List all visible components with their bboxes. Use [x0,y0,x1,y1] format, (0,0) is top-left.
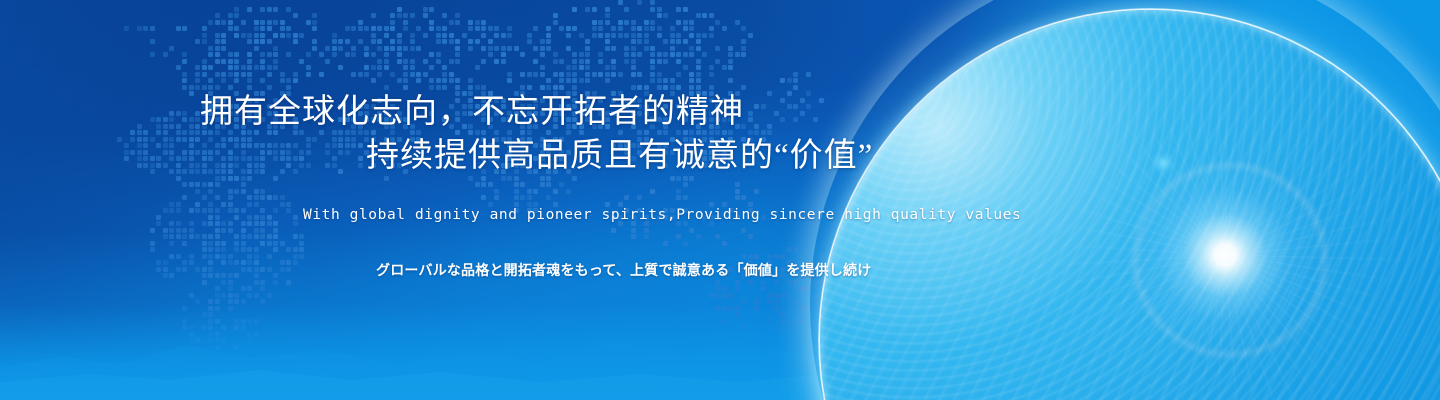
map-dot [241,221,246,226]
map-dot [312,13,317,18]
map-dot [273,33,278,38]
map-dot [241,169,246,174]
map-dot [208,273,213,278]
map-dot [254,26,259,31]
map-dot [163,234,168,239]
map-dot [676,52,681,57]
map-dot [202,247,207,252]
map-dot [202,267,207,272]
map-dot [228,254,233,259]
map-dot [241,72,246,77]
map-dot [533,98,538,103]
map-dot [176,234,181,239]
map-dot [410,65,415,70]
map-dot [533,104,538,109]
map-dot [507,176,512,181]
map-dot [488,46,493,51]
map-dot [280,195,285,200]
map-dot [286,91,291,96]
map-dot [494,26,499,31]
map-dot [397,163,402,168]
map-dot [371,117,376,122]
map-dot [416,156,421,161]
map-dot [215,130,220,135]
map-dot [442,117,447,122]
map-dot [683,176,688,181]
map-dot [234,7,239,12]
map-dot [390,124,395,129]
map-dot [735,104,740,109]
map-dot [202,182,207,187]
map-dot [293,130,298,135]
map-dot [488,202,493,207]
map-dot [533,189,538,194]
map-dot [273,143,278,148]
map-dot [247,39,252,44]
map-dot [286,247,291,252]
map-dot [267,111,272,116]
map-dot [208,208,213,213]
map-dot [696,124,701,129]
map-dot [247,85,252,90]
map-dot [228,111,233,116]
map-dot [208,78,213,83]
map-dot [202,221,207,226]
map-dot [741,85,746,90]
map-dot [332,46,337,51]
map-dot [260,228,265,233]
map-dot [286,280,291,285]
map-dot [780,78,785,83]
map-dot [722,241,727,246]
map-dot [644,130,649,135]
map-dot [397,137,402,142]
map-dot [280,202,285,207]
map-dot [618,130,623,135]
map-dot [501,59,506,64]
map-dot [553,52,558,57]
map-dot [299,130,304,135]
map-dot [351,46,356,51]
map-dot [293,39,298,44]
map-dot [156,163,161,168]
map-dot [202,195,207,200]
map-dot [280,143,285,148]
map-dot [689,72,694,77]
map-dot [709,156,714,161]
map-dot [501,98,506,103]
map-dot [507,156,512,161]
map-dot [637,26,642,31]
map-dot [293,260,298,265]
map-dot [618,33,623,38]
map-dot [650,0,655,5]
map-dot [293,254,298,259]
map-dot [234,273,239,278]
map-dot [481,33,486,38]
map-dot [293,124,298,129]
map-dot [163,124,168,129]
map-dot [546,78,551,83]
map-dot [150,137,155,142]
map-dot [507,26,512,31]
map-dot [481,111,486,116]
map-dot [280,267,285,272]
map-dot [182,59,187,64]
map-dot [592,124,597,129]
map-dot [169,234,174,239]
map-dot [338,39,343,44]
map-dot [176,202,181,207]
map-dot [351,72,356,77]
map-dot [735,215,740,220]
map-dot [650,124,655,129]
map-dot [709,65,714,70]
map-dot [481,117,486,122]
map-dot [208,215,213,220]
map-dot [215,46,220,51]
map-dot [410,130,415,135]
map-dot [637,98,642,103]
map-dot [195,85,200,90]
map-dot [566,150,571,155]
map-dot [377,39,382,44]
map-dot [449,39,454,44]
map-dot [403,117,408,122]
map-dot [215,215,220,220]
map-dot [202,59,207,64]
map-dot [228,156,233,161]
map-dot [657,26,662,31]
map-dot [364,150,369,155]
map-dot [605,111,610,116]
map-dot [546,182,551,187]
map-dot [189,130,194,135]
map-dot [215,169,220,174]
map-dot [579,78,584,83]
map-dot [689,52,694,57]
map-dot [624,150,629,155]
map-dot [559,111,564,116]
map-dot [377,117,382,122]
map-dot [247,156,252,161]
map-dot [624,46,629,51]
map-dot [202,254,207,259]
map-dot [260,208,265,213]
map-dot [384,85,389,90]
map-dot [566,104,571,109]
map-dot [247,33,252,38]
map-dot [631,111,636,116]
map-dot [260,156,265,161]
map-dot [709,215,714,220]
map-dot [462,111,467,116]
map-dot [169,221,174,226]
map-dot [202,169,207,174]
map-dot [761,280,766,285]
map-dot [247,267,252,272]
map-dot [228,13,233,18]
map-dot [234,247,239,252]
map-dot [553,163,558,168]
map-dot [338,104,343,109]
map-dot [689,20,694,25]
map-dot [390,104,395,109]
map-dot [676,72,681,77]
map-dot [637,150,642,155]
map-dot [455,13,460,18]
map-dot [767,124,772,129]
map-dot [215,221,220,226]
map-dot [546,46,551,51]
map-dot [683,195,688,200]
map-dot [208,247,213,252]
map-dot [507,137,512,142]
map-dot [657,72,662,77]
map-dot [332,137,337,142]
map-dot [702,104,707,109]
map-dot [397,117,402,122]
map-dot [455,59,460,64]
map-dot [689,33,694,38]
map-dot [364,137,369,142]
map-dot [644,137,649,142]
map-dot [280,26,285,31]
map-dot [338,130,343,135]
map-dot [644,234,649,239]
map-dot [670,150,675,155]
map-dot [468,20,473,25]
map-dot [351,104,356,109]
map-dot [780,267,785,272]
map-dot [195,111,200,116]
map-dot [234,33,239,38]
map-dot [748,33,753,38]
map-dot [611,26,616,31]
map-dot [241,228,246,233]
map-dot [247,176,252,181]
map-dot [637,137,642,142]
map-dot [286,163,291,168]
map-dot [156,260,161,265]
map-dot [572,78,577,83]
map-dot [371,39,376,44]
map-dot [195,124,200,129]
map-dot [312,39,317,44]
map-dot [358,20,363,25]
map-dot [631,215,636,220]
map-dot [728,130,733,135]
map-dot [169,169,174,174]
map-dot [260,150,265,155]
map-dot [221,254,226,259]
map-dot [696,13,701,18]
map-dot [663,104,668,109]
map-dot [546,150,551,155]
map-dot [650,20,655,25]
map-dot [286,156,291,161]
map-dot [663,13,668,18]
map-dot [611,228,616,233]
map-dot [176,267,181,272]
map-dot [800,273,805,278]
map-dot [631,143,636,148]
map-dot [527,111,532,116]
map-dot [605,20,610,25]
map-dot [228,273,233,278]
map-dot [559,137,564,142]
map-dot [689,78,694,83]
map-dot [338,137,343,142]
map-dot [514,46,519,51]
map-dot [520,72,525,77]
map-dot [273,234,278,239]
map-dot [260,169,265,174]
map-dot [676,59,681,64]
map-dot [605,78,610,83]
map-dot [267,254,272,259]
map-dot [234,163,239,168]
map-dot [143,163,148,168]
map-dot [176,124,181,129]
map-dot [156,124,161,129]
map-dot [546,176,551,181]
map-dot [124,143,129,148]
map-dot [150,241,155,246]
map-dot [527,130,532,135]
map-dot [403,13,408,18]
map-dot [527,104,532,109]
map-dot [169,241,174,246]
map-dot [163,273,168,278]
map-dot [819,254,824,259]
map-dot [176,254,181,259]
map-dot [247,137,252,142]
map-dot [234,117,239,122]
map-dot [644,221,649,226]
map-dot [351,124,356,129]
map-dot [624,7,629,12]
map-dot [598,111,603,116]
map-dot [306,52,311,57]
map-dot [728,117,733,122]
map-dot [215,104,220,109]
map-dot [507,130,512,135]
map-dot [338,169,343,174]
map-dot [657,215,662,220]
map-dot [728,267,733,272]
map-dot [234,208,239,213]
map-dot [182,78,187,83]
map-dot [728,65,733,70]
map-dot [416,72,421,77]
map-dot [481,59,486,64]
map-dot [208,169,213,174]
map-dot [358,111,363,116]
map-dot [663,52,668,57]
map-dot [748,130,753,135]
map-dot [423,13,428,18]
map-dot [566,26,571,31]
map-dot [572,26,577,31]
map-dot [605,65,610,70]
map-dot [741,273,746,278]
map-dot [631,85,636,90]
map-dot [286,260,291,265]
map-dot [143,137,148,142]
map-dot [332,130,337,135]
map-dot [351,130,356,135]
map-dot [202,208,207,213]
map-dot [572,72,577,77]
map-dot [247,215,252,220]
map-dot [215,228,220,233]
map-dot [215,124,220,129]
map-dot [754,273,759,278]
map-dot [715,143,720,148]
map-dot [449,78,454,83]
map-dot [293,143,298,148]
map-dot [650,72,655,77]
map-dot [195,78,200,83]
map-dot [267,85,272,90]
map-dot [228,85,233,90]
map-dot [215,33,220,38]
map-dot [273,124,278,129]
map-dot [208,46,213,51]
map-dot [735,91,740,96]
map-dot [728,104,733,109]
map-dot [585,117,590,122]
map-dot [273,195,278,200]
map-dot [215,254,220,259]
map-dot [163,228,168,233]
map-dot [637,111,642,116]
map-dot [689,85,694,90]
map-dot [215,143,220,148]
map-dot [215,241,220,246]
map-dot [169,208,174,213]
map-dot [169,150,174,155]
map-dot [293,247,298,252]
map-dot [182,241,187,246]
map-dot [254,221,259,226]
map-dot [787,78,792,83]
map-dot [553,72,558,77]
map-dot [215,208,220,213]
map-dot [351,26,356,31]
map-dot [631,221,636,226]
map-dot [514,91,519,96]
map-dot [273,241,278,246]
map-dot [592,91,597,96]
map-dot [267,267,272,272]
map-dot [221,39,226,44]
map-dot [254,117,259,122]
map-dot [533,72,538,77]
map-dot [527,124,532,129]
map-dot [416,46,421,51]
map-dot [436,39,441,44]
map-dot [618,72,623,77]
map-dot [319,130,324,135]
map-dot [202,156,207,161]
map-dot [377,65,382,70]
map-dot [286,85,291,90]
map-dot [540,98,545,103]
map-dot [715,117,720,122]
map-dot [273,52,278,57]
